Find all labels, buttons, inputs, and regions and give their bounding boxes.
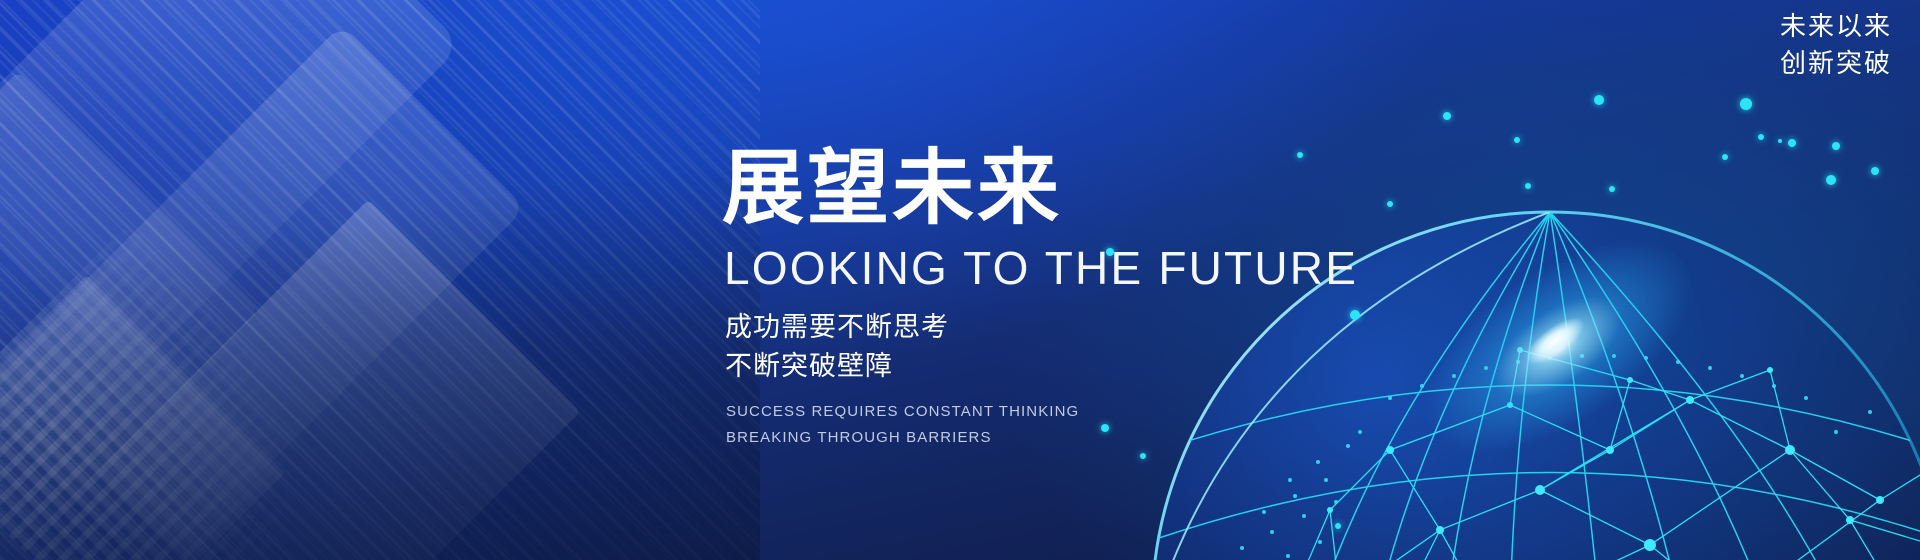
page-title: 展望未来 bbox=[722, 148, 1358, 230]
particle-dot bbox=[1826, 175, 1836, 185]
particle-dot bbox=[1871, 167, 1879, 175]
particle-dot bbox=[1514, 137, 1520, 143]
geo-vignette bbox=[0, 0, 760, 560]
geo-shape-b bbox=[0, 24, 526, 560]
corner-tagline: 未来以来 创新突破 bbox=[1780, 8, 1892, 82]
particle-dot bbox=[1594, 95, 1604, 105]
subheading-english-line1: SUCCESS REQUIRES CONSTANT THINKING bbox=[726, 399, 1358, 425]
particle-dot bbox=[1443, 112, 1451, 120]
globe-highlight-spark bbox=[1521, 311, 1590, 371]
particle-dot bbox=[1788, 139, 1796, 147]
particle-dot bbox=[1609, 186, 1615, 192]
geo-shape-d bbox=[100, 200, 581, 560]
particle-dot bbox=[1740, 98, 1752, 110]
diagonal-stripes bbox=[0, 0, 760, 560]
globe-rim-glow bbox=[1392, 201, 1725, 493]
dot-grid-pattern bbox=[0, 227, 358, 560]
subheading-english-line2: BREAKING THROUGH BARRIERS bbox=[726, 425, 1358, 451]
promo-banner: 展望未来 LOOKING TO THE FUTURE 成功需要不断思考 不断突破… bbox=[0, 0, 1920, 560]
headline-subtitle-en: LOOKING TO THE FUTURE bbox=[724, 244, 1358, 292]
geo-shape-e bbox=[0, 275, 285, 560]
geo-shape-a bbox=[0, 0, 462, 377]
subheading-english: SUCCESS REQUIRES CONSTANT THINKING BREAK… bbox=[726, 399, 1358, 452]
subheading-chinese-line2: 不断突破壁障 bbox=[725, 347, 1358, 385]
diagonal-stripes-thin bbox=[0, 0, 760, 560]
particle-dot bbox=[1778, 139, 1782, 143]
corner-tagline-line2: 创新突破 bbox=[1780, 45, 1892, 82]
headline-block: 展望未来 LOOKING TO THE FUTURE 成功需要不断思考 不断突破… bbox=[722, 148, 1358, 451]
particle-dot bbox=[1525, 183, 1531, 189]
particle-dot bbox=[1387, 201, 1393, 207]
particle-dot bbox=[1140, 453, 1146, 459]
corner-tagline-line1: 未来以来 bbox=[1780, 8, 1892, 45]
geometric-decoration bbox=[0, 0, 760, 560]
subheading-chinese-line1: 成功需要不断思考 bbox=[725, 308, 1358, 346]
geo-shape-c bbox=[0, 71, 259, 560]
particle-dot bbox=[1722, 154, 1728, 160]
subheading-chinese: 成功需要不断思考 不断突破壁障 bbox=[725, 308, 1358, 385]
particle-dot bbox=[1335, 523, 1341, 529]
particle-dot bbox=[1832, 142, 1840, 150]
particle-dot bbox=[1758, 134, 1764, 140]
